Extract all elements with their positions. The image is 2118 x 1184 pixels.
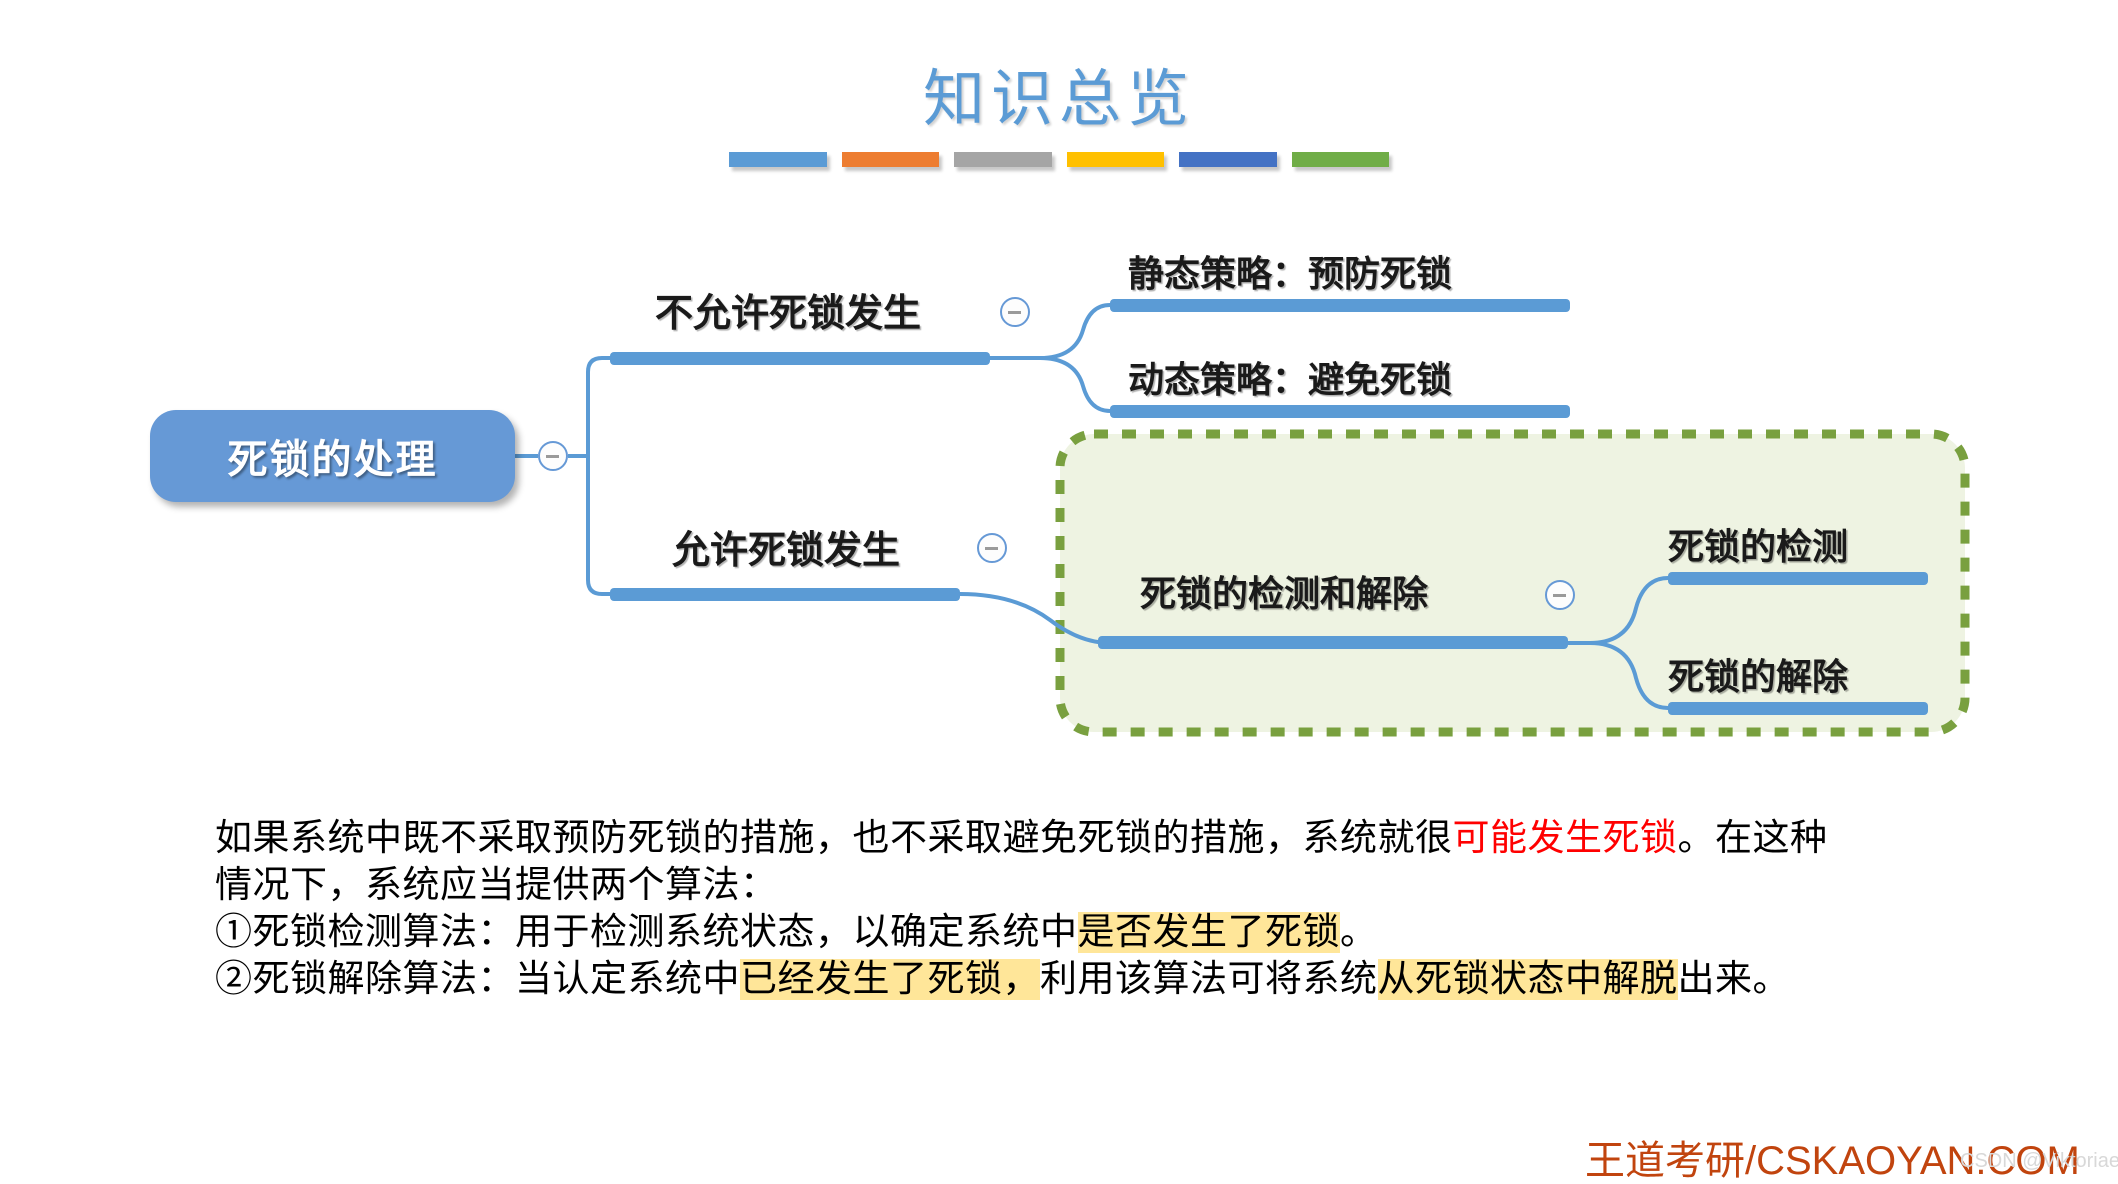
leaf1-underline	[1668, 572, 1928, 585]
body-line3-part-a: ①死锁检测算法：用于检测系统状态，以确定系统中	[215, 912, 1078, 953]
body-line-1: 如果系统中既不采取预防死锁的措施，也不采取避免死锁的措施，系统就很可能发生死锁。…	[215, 815, 1975, 862]
mindmap-root-label: 死锁的处理	[150, 410, 515, 502]
body-line4-part-a: ②死锁解除算法：当认定系统中	[215, 959, 740, 1000]
subnode-underline	[1098, 636, 1568, 649]
collapse-toggle-detect-release[interactable]	[1545, 580, 1575, 610]
collapse-toggle-allow[interactable]	[977, 533, 1007, 563]
node-label-deadlock-detection[interactable]: 死锁的检测	[1668, 518, 1848, 570]
body-line1-part-a: 如果系统中既不采取预防死锁的措施，也不采取避免死锁的措施，系统就很	[215, 818, 1453, 859]
body-line3-part-b: 。	[1340, 912, 1378, 953]
mindmap: 死锁的处理 不允许死锁发生 静态策略：预防死锁 动态策略：避免死锁 允许死锁发生…	[0, 0, 2118, 790]
slide-root: 知识总览	[0, 0, 2118, 1184]
body-line-3: ①死锁检测算法：用于检测系统状态，以确定系统中是否发生了死锁。	[215, 909, 1975, 956]
body-line4-highlight-2: 从死锁状态中解脱	[1378, 959, 1678, 1000]
branch-label-allow-deadlock[interactable]: 允许死锁发生	[672, 519, 900, 574]
branch2-underline	[610, 588, 960, 601]
collapse-toggle-disallow[interactable]	[1000, 297, 1030, 327]
body-line-4: ②死锁解除算法：当认定系统中已经发生了死锁，利用该算法可将系统从死锁状态中解脱出…	[215, 956, 1975, 1003]
body-line4-part-b: 利用该算法可将系统	[1040, 959, 1378, 1000]
collapse-toggle-root[interactable]	[538, 441, 568, 471]
mindmap-root-node[interactable]: 死锁的处理	[150, 410, 515, 502]
node-label-static-strategy[interactable]: 静态策略：预防死锁	[1128, 245, 1452, 297]
body-line3-highlight: 是否发生了死锁	[1078, 912, 1341, 953]
node-label-dynamic-strategy[interactable]: 动态策略：避免死锁	[1128, 351, 1452, 403]
body-line4-part-c: 出来。	[1678, 959, 1791, 1000]
node-label-detect-and-release[interactable]: 死锁的检测和解除	[1140, 565, 1428, 617]
body-line1-emphasis: 可能发生死锁	[1453, 818, 1678, 859]
body-line4-highlight-1: 已经发生了死锁，	[740, 959, 1040, 1000]
node-label-deadlock-release[interactable]: 死锁的解除	[1668, 648, 1848, 700]
body-line-2: 情况下，系统应当提供两个算法：	[215, 862, 1975, 909]
branch1-underline	[610, 352, 990, 365]
body-paragraph: 如果系统中既不采取预防死锁的措施，也不采取避免死锁的措施，系统就很可能发生死锁。…	[215, 815, 1975, 1003]
leaf2-underline	[1668, 702, 1928, 715]
child1-underline	[1110, 299, 1570, 312]
footer-watermark: CSDN @Viktoriae	[1960, 1150, 2118, 1173]
body-line1-part-b: 。在这种	[1678, 818, 1828, 859]
child2-underline	[1110, 405, 1570, 418]
branch-label-disallow-deadlock[interactable]: 不允许死锁发生	[655, 282, 921, 337]
